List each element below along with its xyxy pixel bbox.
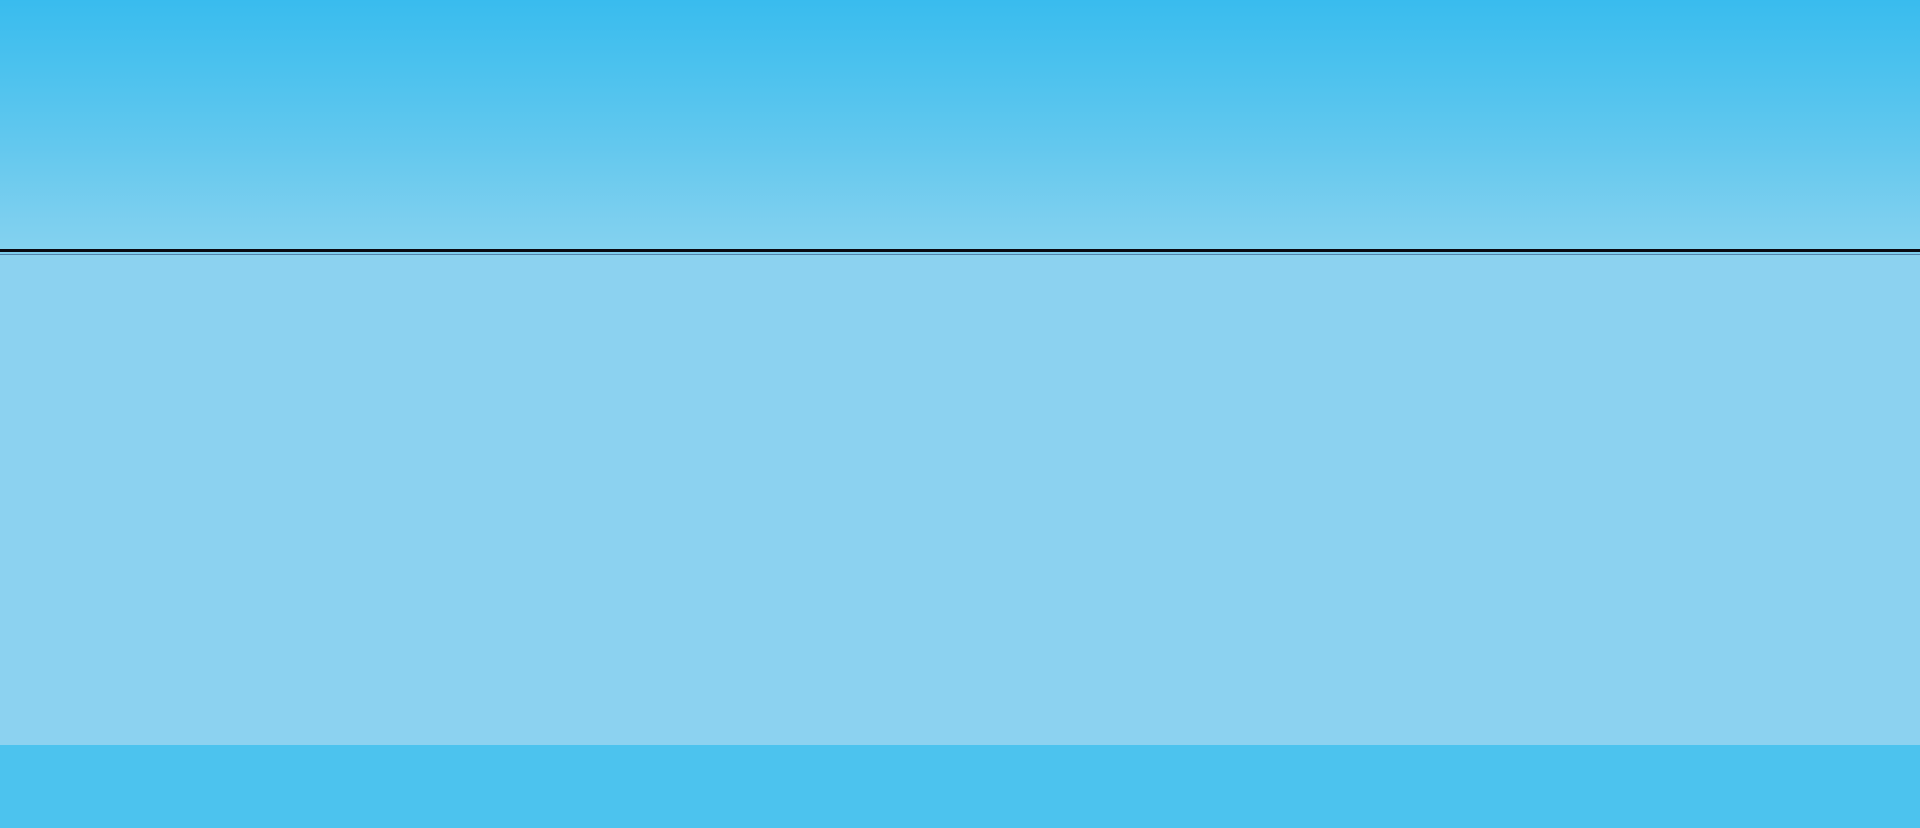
spectrum-plot xyxy=(0,255,1920,745)
header-band xyxy=(0,0,1920,252)
spectral-infographic xyxy=(0,0,1920,828)
top-axis-line xyxy=(0,249,1920,252)
bottom-axis-band xyxy=(0,745,1920,828)
spectrum-canvas xyxy=(0,255,1920,745)
